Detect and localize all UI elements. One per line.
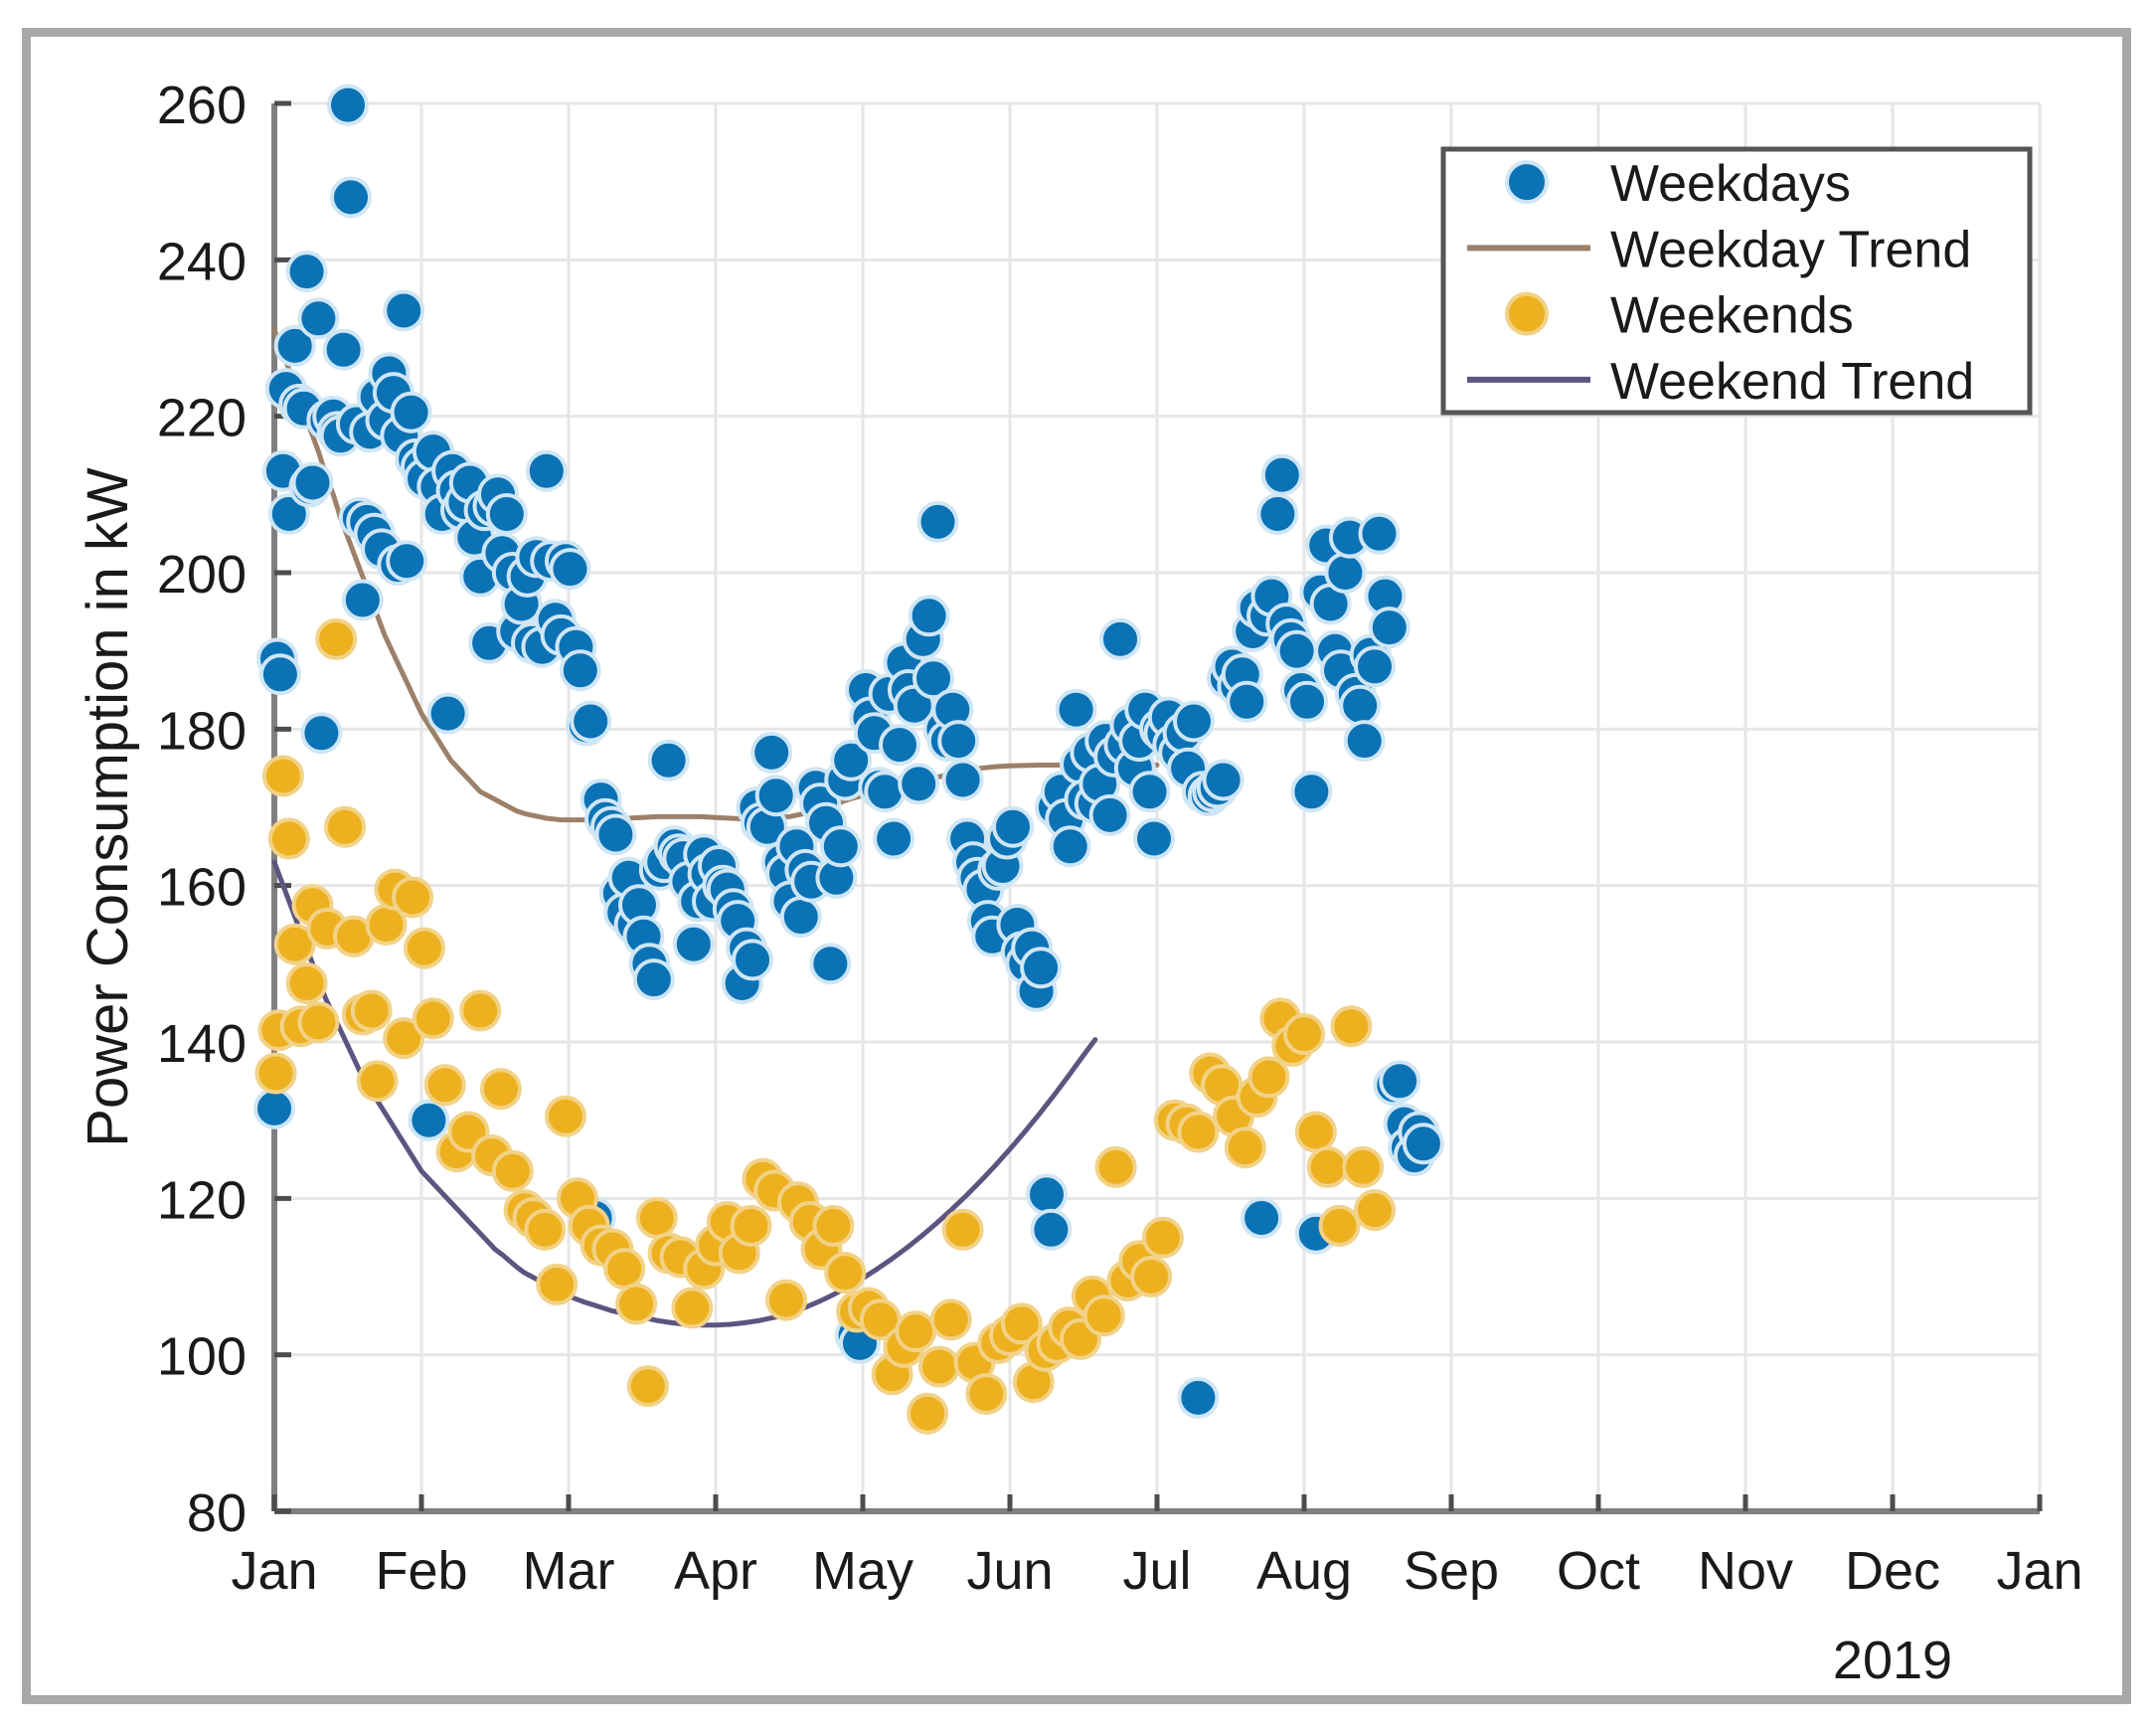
data-point bbox=[967, 1375, 1005, 1413]
data-point bbox=[1321, 1207, 1359, 1245]
data-point bbox=[629, 1367, 667, 1405]
x-tick-label: Jul bbox=[1122, 1541, 1191, 1601]
data-point bbox=[299, 299, 337, 337]
data-point bbox=[1341, 687, 1379, 725]
data-point bbox=[1228, 683, 1265, 721]
data-point bbox=[572, 703, 609, 741]
legend-dot-icon bbox=[1507, 294, 1547, 334]
y-tick-label: 140 bbox=[157, 1014, 247, 1074]
y-axis-title: Power Consumption in kW bbox=[76, 467, 140, 1147]
data-point bbox=[393, 394, 430, 432]
data-point bbox=[1356, 1191, 1394, 1229]
data-point bbox=[552, 550, 589, 588]
y-tick-label: 160 bbox=[157, 858, 247, 918]
data-point bbox=[900, 765, 937, 802]
data-point bbox=[302, 714, 340, 752]
y-tick-label: 80 bbox=[187, 1483, 247, 1543]
data-point bbox=[1144, 1219, 1182, 1257]
x-tick-label: Jan bbox=[231, 1541, 317, 1601]
y-axis-label: Power Consumption in kW bbox=[76, 467, 140, 1147]
data-point bbox=[1371, 608, 1409, 646]
data-point bbox=[1332, 1007, 1370, 1045]
data-point bbox=[299, 1003, 337, 1041]
data-point bbox=[1091, 796, 1129, 834]
data-point bbox=[1085, 1297, 1123, 1334]
data-point bbox=[415, 999, 452, 1037]
data-point bbox=[875, 820, 912, 858]
x-tick-label: Oct bbox=[1557, 1541, 1640, 1601]
data-point bbox=[1179, 1379, 1217, 1417]
data-point bbox=[1326, 554, 1364, 592]
data-point bbox=[1132, 1258, 1170, 1296]
data-point bbox=[494, 1152, 532, 1190]
year-label: 2019 bbox=[1833, 1631, 1952, 1690]
x-tick-label: Jan bbox=[1996, 1541, 2082, 1601]
data-point bbox=[257, 1055, 295, 1093]
data-point bbox=[329, 87, 367, 124]
data-point bbox=[547, 1098, 584, 1135]
data-point bbox=[385, 292, 422, 330]
data-point bbox=[325, 331, 363, 369]
data-point bbox=[932, 1300, 970, 1338]
data-point bbox=[1288, 683, 1326, 721]
x-axis-year-label: 2019 bbox=[1833, 1631, 1952, 1690]
data-point bbox=[1227, 1128, 1264, 1166]
data-point bbox=[638, 1199, 676, 1237]
data-point bbox=[488, 495, 526, 533]
data-point bbox=[1243, 1199, 1280, 1237]
data-point bbox=[426, 1066, 464, 1104]
data-point bbox=[538, 1266, 576, 1303]
data-point bbox=[388, 542, 425, 580]
data-point bbox=[1346, 722, 1384, 760]
data-point bbox=[1205, 762, 1243, 799]
data-point bbox=[1405, 1125, 1442, 1162]
data-point bbox=[394, 879, 431, 917]
data-point bbox=[919, 503, 957, 541]
y-tick-label: 220 bbox=[157, 389, 247, 448]
data-point bbox=[482, 1070, 520, 1108]
data-point bbox=[526, 1211, 564, 1249]
data-point bbox=[911, 597, 948, 634]
x-tick-label: Jun bbox=[966, 1541, 1053, 1601]
y-tick-label: 200 bbox=[157, 545, 247, 605]
data-point bbox=[782, 898, 820, 936]
x-tick-label: Sep bbox=[1404, 1541, 1499, 1601]
data-point bbox=[332, 178, 370, 216]
data-point bbox=[1135, 820, 1173, 858]
x-tick-label: Mar bbox=[523, 1541, 615, 1601]
y-tick-label: 100 bbox=[157, 1327, 247, 1387]
data-point bbox=[673, 1290, 711, 1327]
data-point bbox=[605, 1250, 643, 1288]
x-tick-label: May bbox=[812, 1541, 913, 1601]
data-point bbox=[909, 1395, 946, 1433]
data-point bbox=[1381, 1062, 1418, 1100]
x-tick-label: Feb bbox=[375, 1541, 467, 1601]
data-point bbox=[944, 1211, 982, 1249]
data-point bbox=[635, 960, 673, 998]
data-point bbox=[881, 726, 918, 764]
power-consumption-scatter-chart: 80100120140160180200220240260JanFebMarAp… bbox=[0, 0, 2156, 1732]
legend-dot-icon bbox=[1507, 162, 1547, 202]
data-point bbox=[822, 827, 860, 865]
data-point bbox=[528, 452, 566, 490]
data-point bbox=[944, 762, 982, 799]
data-point bbox=[264, 758, 302, 795]
data-point bbox=[675, 926, 713, 963]
data-point bbox=[617, 1286, 655, 1323]
legend-label: Weekdays bbox=[1610, 155, 1851, 213]
data-point bbox=[1263, 456, 1301, 494]
data-point bbox=[1292, 773, 1330, 810]
y-tick-label: 120 bbox=[157, 1170, 247, 1230]
data-point bbox=[1032, 1211, 1070, 1249]
x-tick-label: Apr bbox=[674, 1541, 757, 1601]
data-point bbox=[1175, 703, 1213, 741]
data-point bbox=[270, 820, 308, 858]
legend-label: Weekday Trend bbox=[1610, 221, 1971, 278]
data-point bbox=[288, 253, 326, 290]
data-point bbox=[1356, 647, 1394, 685]
x-tick-label: Dec bbox=[1845, 1541, 1940, 1601]
data-point bbox=[1131, 773, 1169, 810]
data-point bbox=[733, 1207, 770, 1245]
data-point bbox=[1278, 632, 1316, 670]
data-point bbox=[767, 1282, 805, 1319]
data-point bbox=[1179, 1114, 1217, 1151]
data-point bbox=[255, 1090, 293, 1127]
data-point bbox=[1022, 949, 1060, 986]
data-point bbox=[811, 945, 849, 982]
data-point bbox=[1028, 1175, 1066, 1213]
legend-label: Weekends bbox=[1610, 287, 1854, 345]
data-point bbox=[317, 620, 355, 658]
data-point bbox=[596, 816, 634, 854]
data-point bbox=[353, 992, 391, 1030]
data-point bbox=[734, 941, 771, 978]
y-tick-label: 260 bbox=[157, 76, 247, 135]
data-point bbox=[752, 734, 790, 772]
data-point bbox=[939, 722, 977, 760]
data-point bbox=[406, 930, 443, 967]
data-point bbox=[1285, 1015, 1323, 1053]
legend-label: Weekend Trend bbox=[1610, 353, 1974, 411]
data-point bbox=[814, 1207, 852, 1245]
data-point bbox=[920, 1348, 958, 1386]
data-point bbox=[562, 651, 599, 689]
data-point bbox=[826, 1254, 864, 1292]
chart-legend[interactable]: WeekdaysWeekday TrendWeekendsWeekend Tre… bbox=[1443, 149, 2030, 413]
data-point bbox=[866, 773, 904, 810]
data-point bbox=[1052, 827, 1089, 865]
data-point bbox=[1101, 620, 1139, 658]
data-point bbox=[1361, 515, 1399, 553]
data-point bbox=[261, 655, 299, 693]
figure-container: 80100120140160180200220240260JanFebMarAp… bbox=[0, 0, 2156, 1732]
data-point bbox=[1344, 1148, 1382, 1186]
x-tick-label: Aug bbox=[1256, 1541, 1352, 1601]
y-tick-label: 180 bbox=[157, 701, 247, 761]
x-tick-label: Nov bbox=[1698, 1541, 1793, 1601]
data-point bbox=[288, 964, 326, 1002]
data-point bbox=[410, 1102, 447, 1139]
data-point bbox=[994, 808, 1032, 846]
data-point bbox=[897, 1312, 934, 1350]
data-point bbox=[1058, 691, 1095, 729]
plot-wrapper: 80100120140160180200220240260JanFebMarAp… bbox=[0, 0, 2156, 1732]
data-point bbox=[344, 582, 382, 619]
data-point bbox=[1309, 1148, 1347, 1186]
data-point bbox=[326, 808, 364, 846]
data-points bbox=[255, 87, 1442, 1433]
data-point bbox=[650, 742, 688, 779]
data-point bbox=[1297, 1114, 1335, 1151]
data-point bbox=[359, 1062, 397, 1100]
data-point bbox=[294, 464, 332, 502]
data-point bbox=[757, 777, 795, 814]
data-point bbox=[1097, 1148, 1135, 1186]
data-point bbox=[429, 695, 467, 733]
data-point bbox=[1258, 495, 1296, 533]
y-tick-label: 240 bbox=[157, 232, 247, 291]
data-point bbox=[461, 992, 499, 1030]
